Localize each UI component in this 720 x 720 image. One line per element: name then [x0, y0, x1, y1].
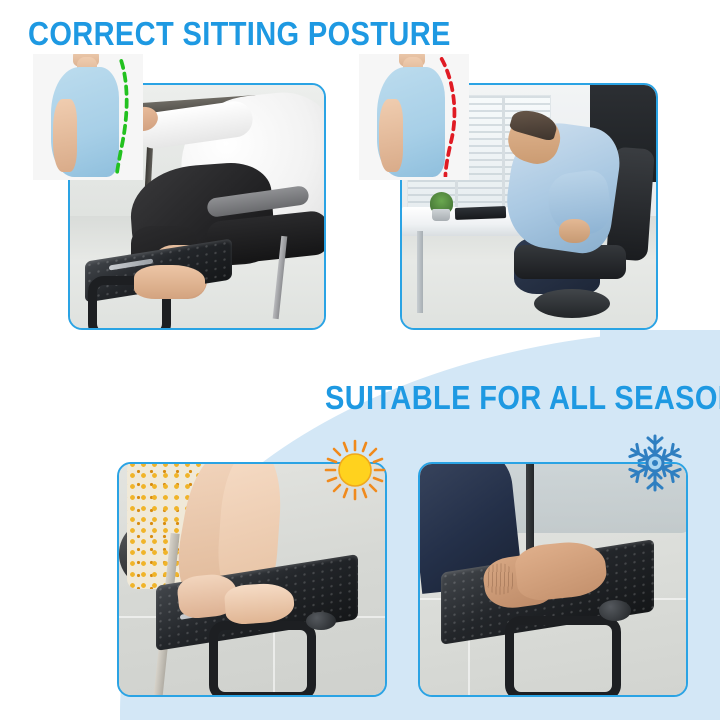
- footrest-frame: [505, 616, 621, 697]
- photo-winter-socks: [418, 462, 688, 697]
- arm: [379, 99, 403, 172]
- snowflake-icon: [622, 430, 688, 496]
- inset-incorrect-posture: [359, 54, 469, 180]
- section-heading-seasons: SUITABLE FOR ALL SEASONS: [325, 378, 720, 418]
- bare-foot: [134, 265, 205, 299]
- correct-spine-dashed-line: [97, 57, 134, 178]
- desk-leg: [526, 464, 534, 556]
- sun-icon: [322, 437, 388, 503]
- footrest-frame: [209, 621, 316, 697]
- plant-pot: [432, 209, 450, 221]
- product-feature-image: CORRECT SITTING POSTURE: [0, 0, 720, 720]
- footrest-tilt-knob: [306, 612, 336, 630]
- arm: [53, 99, 77, 172]
- incorrect-spine-dashed-line: [423, 57, 460, 178]
- desk-leg: [417, 231, 423, 314]
- hand-on-lower-back: [559, 219, 589, 243]
- sock-ribbing: [484, 562, 516, 596]
- footrest-tilt-knob: [599, 600, 631, 621]
- window-mullion: [502, 96, 505, 208]
- inset-correct-posture: [33, 54, 143, 180]
- notebook: [455, 206, 506, 220]
- section-heading-posture: CORRECT SITTING POSTURE: [28, 14, 451, 54]
- scene-socks-footrest: [420, 464, 686, 695]
